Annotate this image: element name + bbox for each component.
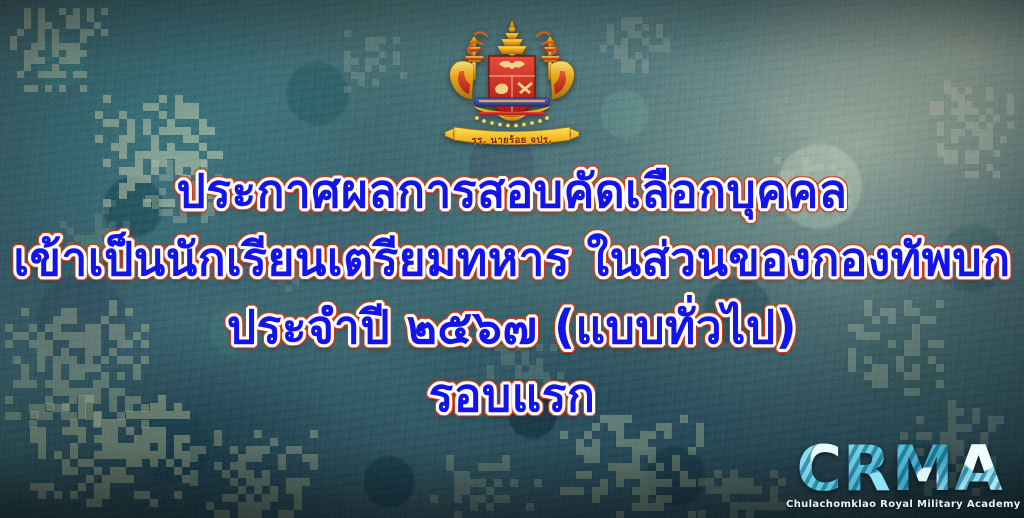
headline-line-2: เข้าเป็นนักเรียนเตรียมทหาร ในส่วนของกองท…	[0, 236, 1024, 282]
camo-patch	[145, 160, 229, 230]
announcement-poster: รร. นายร้อย จปร. ประกาศผลการสอบคัดเลือกบ…	[0, 0, 1024, 518]
crma-logo: CRMA Chulachomklao Royal Military Academ…	[786, 440, 1014, 510]
camo-patch	[95, 95, 223, 207]
camo-patch	[560, 415, 704, 518]
camo-patch	[600, 10, 670, 73]
camo-patch	[480, 330, 564, 386]
shield-base-band	[475, 98, 549, 106]
camo-patch	[5, 300, 149, 428]
camo-patch	[190, 430, 318, 518]
camo-patch	[430, 455, 542, 518]
headline-line-3: ประจำปี ๒๕๖๗ (แบบทั่วไป)	[0, 304, 1024, 350]
camo-patch	[60, 200, 130, 263]
headline-line-4: รอบแรก	[0, 372, 1024, 418]
camo-patch	[30, 395, 190, 507]
crma-wordmark: CRMA	[786, 440, 1014, 498]
headline-line-1: ประกาศผลการสอบคัดเลือกบุคคล	[0, 168, 1024, 214]
emblem-banner-text: รร. นายร้อย จปร.	[427, 132, 597, 148]
royal-emblem: รร. นายร้อย จปร.	[427, 14, 597, 164]
camo-patch	[10, 8, 108, 92]
camo-patch	[760, 150, 851, 220]
camo-patch	[840, 300, 952, 396]
camo-patch	[250, 250, 320, 299]
camo-patch	[930, 80, 1014, 178]
camo-patch	[330, 30, 407, 93]
headline-block: ประกาศผลการสอบคัดเลือกบุคคล เข้าเป็นนักเ…	[0, 168, 1024, 418]
